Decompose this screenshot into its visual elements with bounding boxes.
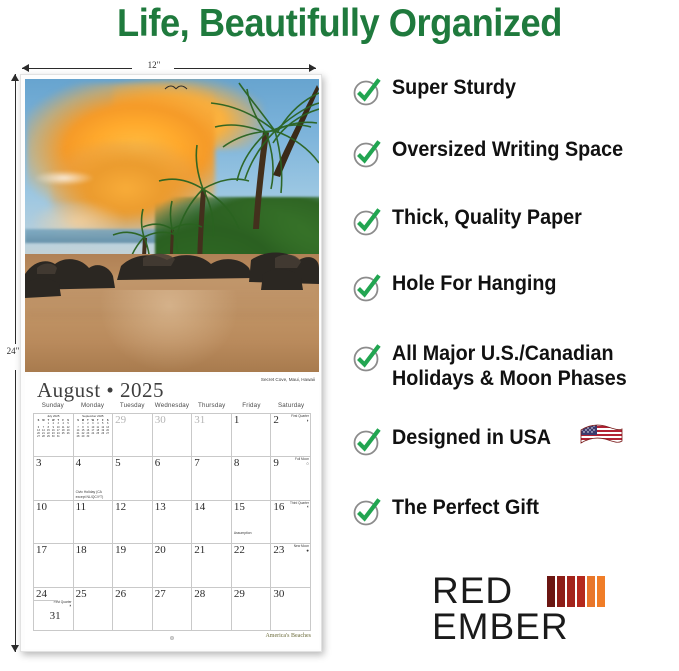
- calendar-day-cell[interactable]: 24First Quarter◗31: [34, 588, 74, 631]
- mini-calendar: July 2025SMTWTFS123456789101112131415161…: [36, 415, 71, 439]
- calendar-day-cell[interactable]: 7: [192, 457, 232, 500]
- day-number: 15: [234, 501, 245, 513]
- calendar-day-cell[interactable]: 2First Quarter◗: [271, 414, 311, 457]
- calendar-day-cell[interactable]: 30: [153, 414, 193, 457]
- calendar-day-cell[interactable]: 3: [34, 457, 74, 500]
- calendar-day-cell[interactable]: 27: [153, 588, 193, 631]
- calendar-day-cell[interactable]: 21: [192, 544, 232, 587]
- feature-label: Designed in USA: [392, 426, 551, 451]
- calendar-day-cell[interactable]: 12: [113, 501, 153, 544]
- calendar-day-cell[interactable]: 19: [113, 544, 153, 587]
- calendar-day-cell[interactable]: 26: [113, 588, 153, 631]
- arrow-up-icon: [11, 74, 19, 81]
- feature-item: All Major U.S./Canadian Holidays & Moon …: [352, 342, 660, 392]
- calendar-day-cell[interactable]: 13: [153, 501, 193, 544]
- day-number: 30: [273, 588, 284, 600]
- calendar-day-cell[interactable]: 14: [192, 501, 232, 544]
- feature-label: The Perfect Gift: [392, 496, 539, 521]
- feature-label: Thick, Quality Paper: [392, 206, 582, 231]
- day-number: 17: [36, 544, 47, 556]
- logo-bar: [557, 576, 565, 607]
- moon-phase-label: First Quarter◗: [54, 601, 72, 609]
- feature-item: Super Sturdy: [352, 76, 524, 107]
- calendar-day-cell[interactable]: 15Assumption: [232, 501, 272, 544]
- calendar-day-cell[interactable]: 8: [232, 457, 272, 500]
- weekday-label: Saturday: [271, 402, 311, 412]
- calendar-day-cell[interactable]: 25: [74, 588, 114, 631]
- logo-text-ember: EMBER: [432, 606, 569, 647]
- moon-phase-label: New Moon●: [294, 545, 309, 553]
- calendar-day-cell[interactable]: 28: [192, 588, 232, 631]
- calendar-day-cell[interactable]: 18: [74, 544, 114, 587]
- check-circle-icon: [352, 77, 382, 107]
- calendar-day-cell[interactable]: 22: [232, 544, 272, 587]
- weekday-label: Tuesday: [112, 402, 152, 412]
- day-number: 12: [115, 501, 126, 513]
- calendar-day-cell[interactable]: 23New Moon●: [271, 544, 311, 587]
- calendar-day-grid: July 2025SMTWTFS123456789101112131415161…: [33, 413, 311, 631]
- photo-location-caption: Secret Cove, Maui, Hawaii: [261, 377, 315, 382]
- day-number: 23: [273, 544, 284, 556]
- check-circle-icon: [352, 139, 382, 169]
- logo-bar: [597, 576, 605, 607]
- day-number: 3: [36, 457, 42, 469]
- width-dimension-marker: 12": [22, 60, 316, 74]
- product-marketing-image: Life, Beautifully Organized 12" 24": [0, 0, 679, 671]
- day-number: 20: [155, 544, 166, 556]
- width-dimension-label: 12": [134, 60, 174, 70]
- feature-label: Oversized Writing Space: [392, 138, 623, 163]
- day-number: 21: [194, 544, 205, 556]
- calendar-day-cell[interactable]: 20: [153, 544, 193, 587]
- calendar-day-cell[interactable]: 5: [113, 457, 153, 500]
- check-circle-icon: [352, 273, 382, 303]
- moon-phase-icon: ◗: [291, 419, 309, 424]
- day-number: 22: [234, 544, 245, 556]
- weekday-header-row: Sunday Monday Tuesday Wednesday Thursday…: [33, 402, 311, 412]
- arrow-left-icon: [22, 64, 29, 72]
- calendar-day-cell[interactable]: 1: [232, 414, 272, 457]
- calendar-photo-beach: [25, 79, 319, 372]
- cell-split-divider: [34, 600, 58, 601]
- calendar-day-cell[interactable]: 11: [74, 501, 114, 544]
- calendar-day-cell[interactable]: 29: [232, 588, 272, 631]
- day-number: 19: [115, 544, 126, 556]
- day-number: 8: [234, 457, 240, 469]
- day-number: 9: [273, 457, 279, 469]
- day-number: 7: [194, 457, 200, 469]
- day-number: 14: [194, 501, 205, 513]
- day-number: 10: [36, 501, 47, 513]
- day-number: 5: [115, 457, 121, 469]
- height-dimension-marker: 24": [4, 74, 20, 652]
- calendar-day-cell[interactable]: 17: [34, 544, 74, 587]
- weekday-label: Monday: [73, 402, 113, 412]
- check-circle-icon: [352, 343, 382, 373]
- logo-bar: [547, 576, 555, 607]
- mini-calendar-title: July 2025: [36, 415, 71, 419]
- calendar-day-cell[interactable]: 30: [271, 588, 311, 631]
- day-number: 30: [155, 414, 166, 426]
- moon-phase-label: First Quarter◗: [291, 415, 309, 423]
- feature-item: Oversized Writing Space: [352, 138, 638, 169]
- moon-phase-icon: ○: [295, 462, 309, 467]
- volcanic-rocks: [25, 244, 319, 302]
- day-number: 31: [50, 610, 61, 622]
- day-number: 11: [76, 501, 87, 513]
- calendar-day-cell[interactable]: September 2025SMTWTFS1234567891011121314…: [74, 414, 114, 457]
- day-number: 25: [76, 588, 87, 600]
- hanging-hole-icon: [170, 636, 174, 640]
- calendar-sheet-footer: America's Beaches: [33, 632, 311, 646]
- day-number: 6: [155, 457, 161, 469]
- check-circle-icon: [352, 427, 382, 457]
- weekday-label: Sunday: [33, 402, 73, 412]
- feature-label: All Major U.S./Canadian Holidays & Moon …: [392, 342, 644, 392]
- feature-label: Hole For Hanging: [392, 272, 557, 297]
- day-number: 16: [273, 501, 284, 513]
- logo-line-1: RED: [432, 573, 612, 609]
- day-number: 29: [234, 588, 245, 600]
- page-title: Life, Beautifully Organized: [24, 2, 655, 46]
- feature-item: Hole For Hanging: [352, 272, 567, 303]
- moon-phase-icon: ●: [294, 549, 309, 554]
- day-number: 18: [76, 544, 87, 556]
- logo-bar: [587, 576, 595, 607]
- calendar-day-cell[interactable]: 9Full Moon○: [271, 457, 311, 500]
- day-number: 27: [155, 588, 166, 600]
- weekday-label: Wednesday: [152, 402, 192, 412]
- mini-calendar: September 2025SMTWTFS1234567891011121314…: [76, 415, 111, 439]
- feature-label: Super Sturdy: [392, 76, 516, 101]
- logo-ember-bars-icon: [547, 576, 605, 607]
- calendar-day-cell[interactable]: 16Third Quarter◖: [271, 501, 311, 544]
- brand-logo: RED EMBER: [432, 573, 612, 651]
- logo-bar: [567, 576, 575, 607]
- sand-highlight: [101, 290, 236, 370]
- holiday-note: Assumption: [234, 531, 269, 535]
- day-number: 28: [194, 588, 205, 600]
- moon-phase-icon: ◖: [290, 505, 309, 510]
- holiday-note: Civic Holiday (CA except NL/QC/YT): [76, 490, 111, 499]
- day-number: 1: [234, 414, 240, 426]
- arrow-right-icon: [309, 64, 316, 72]
- moon-phase-icon: ◗: [54, 604, 72, 609]
- feature-item: The Perfect Gift: [352, 496, 548, 527]
- calendar-day-cell[interactable]: 31: [192, 414, 232, 457]
- us-flag-icon: [579, 422, 619, 448]
- logo-text-red: RED: [432, 570, 513, 611]
- calendar-product-image: August • 2025 Secret Cove, Maui, Hawaii …: [20, 74, 322, 652]
- feature-item: Thick, Quality Paper: [352, 206, 594, 237]
- day-number: 24: [36, 588, 65, 600]
- logo-bar: [577, 576, 585, 607]
- calendar-day-cell[interactable]: 29: [113, 414, 153, 457]
- calendar-day-cell[interactable]: July 2025SMTWTFS123456789101112131415161…: [34, 414, 74, 457]
- calendar-day-cell[interactable]: 6: [153, 457, 193, 500]
- moon-phase-label: Third Quarter◖: [290, 502, 309, 510]
- day-number: 31: [194, 414, 205, 426]
- mini-calendar-title: September 2025: [76, 415, 111, 419]
- day-number: 2: [273, 414, 279, 426]
- feature-item: Designed in USA: [352, 426, 619, 457]
- calendar-month-title: August • 2025: [37, 378, 164, 403]
- calendar-month-sheet: August • 2025 Secret Cove, Maui, Hawaii …: [25, 376, 319, 649]
- day-number: 4: [76, 457, 82, 469]
- calendar-series-name: America's Beaches: [265, 633, 311, 639]
- calendar-day-cell[interactable]: 10: [34, 501, 74, 544]
- weekday-label: Friday: [232, 402, 272, 412]
- arrow-down-icon: [11, 645, 19, 652]
- check-circle-icon: [352, 497, 382, 527]
- calendar-day-cell[interactable]: 4Civic Holiday (CA except NL/QC/YT): [74, 457, 114, 500]
- day-number: 13: [155, 501, 166, 513]
- day-number: 26: [115, 588, 126, 600]
- check-circle-icon: [352, 207, 382, 237]
- logo-line-2: EMBER: [432, 609, 612, 645]
- moon-phase-label: Full Moon○: [295, 458, 309, 466]
- day-number: 29: [115, 414, 126, 426]
- weekday-label: Thursday: [192, 402, 232, 412]
